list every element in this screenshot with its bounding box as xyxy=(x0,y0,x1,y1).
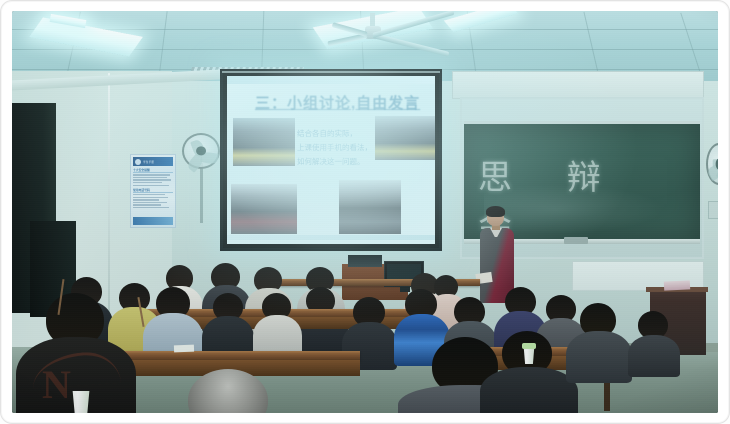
slide-top-band xyxy=(227,76,435,84)
slide-bullet-2: 上课使用手机的看法， xyxy=(297,142,372,153)
wall-switch-box xyxy=(708,201,718,219)
poster-section-two: 常用电话号码 xyxy=(133,188,173,193)
paper-cup-lid xyxy=(522,343,536,349)
photo-stage: 学生手册 十大安全提醒 常用电话号码 xyxy=(0,0,730,424)
poster-header: 学生手册 xyxy=(133,157,173,166)
poster-logo-icon xyxy=(135,159,141,165)
wall-poster: 学生手册 十大安全提醒 常用电话号码 xyxy=(130,154,176,228)
screen-top-highlight xyxy=(222,71,440,73)
photograph: 学生手册 十大安全提醒 常用电话号码 xyxy=(12,11,718,413)
audience-person xyxy=(206,293,252,359)
slide-title: 三：小组讨论,自由发言 xyxy=(255,92,427,113)
wall-fan-left xyxy=(182,133,220,169)
audience-person xyxy=(176,369,280,413)
poster-footer xyxy=(133,217,173,225)
projection-screen: 三：小组讨论,自由发言 结合各自的实际， 上课使用手机的看法， 如何解决这一问题… xyxy=(220,69,442,251)
poster-section-one: 十大安全提醒 xyxy=(133,168,173,173)
side-desk-papers xyxy=(664,280,690,290)
slide-bottom-band xyxy=(227,235,435,240)
slide-photo-top-left xyxy=(233,118,295,166)
desk-paper-note xyxy=(174,345,194,353)
fan-blade xyxy=(372,11,454,38)
slide-photo-bottom-left xyxy=(231,184,297,234)
slide-photo-top-right xyxy=(375,116,435,160)
podium-laptop xyxy=(348,255,382,267)
slide-bullet-3: 如何解决这一问题。 xyxy=(297,156,365,167)
fan-blade xyxy=(372,33,449,57)
wall-fan-right xyxy=(706,143,718,185)
slide-bullet-1: 结合各自的实际， xyxy=(297,128,357,139)
audience-person xyxy=(256,293,300,357)
audience-person xyxy=(632,311,676,371)
ceiling-fan xyxy=(334,13,504,59)
presentation-slide: 三：小组讨论,自由发言 结合各自的实际， 上课使用手机的看法， 如何解决这一问题… xyxy=(227,76,435,244)
audience-person xyxy=(572,303,626,377)
chalk-tray-center-block xyxy=(564,237,588,244)
fan-blade xyxy=(332,22,368,37)
slide-photo-bottom-mid xyxy=(339,180,401,234)
poster-header-text: 学生手册 xyxy=(143,160,154,164)
upper-whiteboard-strip xyxy=(452,71,704,99)
